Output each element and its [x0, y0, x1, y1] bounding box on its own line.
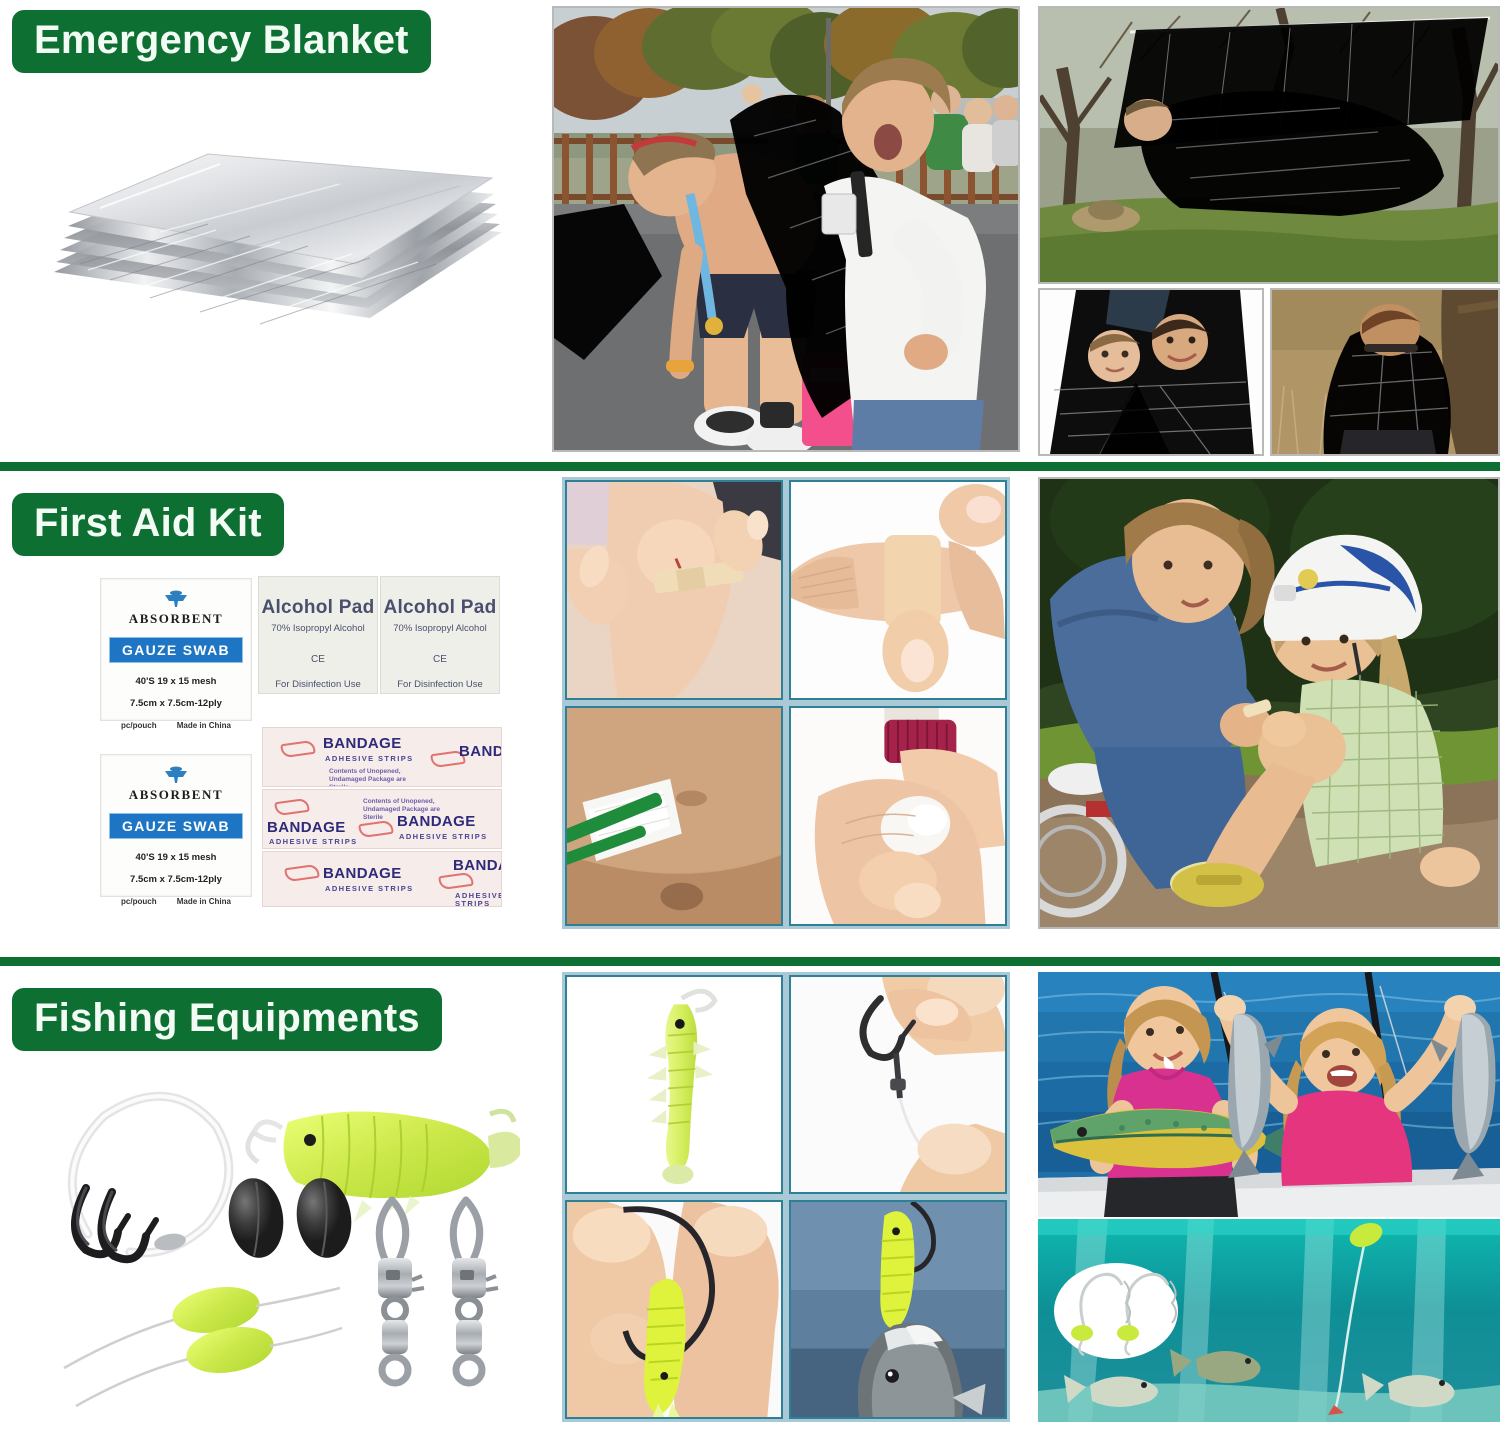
alcohol-pad-title-2: Alcohol Pad [381, 597, 499, 619]
fish-striking-lure-photo [789, 1200, 1007, 1419]
alcohol-pad-packet-1: Alcohol Pad 70% Isopropyl Alcohol CE For… [258, 576, 378, 694]
fishing-usage-grid [562, 972, 1010, 1422]
alcohol-pad-packet-2: Alcohol Pad 70% Isopropyl Alcohol CE For… [380, 576, 500, 694]
gauze-packet-mesh-2: 40'S 19 x 15 mesh [101, 852, 251, 863]
gauze-swab-packet-1: ABSORBENT GAUZE SWAB 40'S 19 x 15 mesh 7… [100, 578, 252, 721]
alcohol-pad-title: Alcohol Pad [259, 597, 377, 619]
product-infographic-sheet: Emergency Blanket [0, 0, 1500, 1442]
cleaning-wound-with-gauze-photo [565, 706, 783, 926]
section-emergency-blanket: Emergency Blanket [0, 0, 1500, 462]
section-fishing-equipments: Fishing Equipments [0, 966, 1500, 1443]
blanket-bivouac-shelter-photo [1038, 6, 1500, 284]
bandage-subtitle-2b: ADHESIVE STRIPS [399, 833, 488, 841]
first-aid-usage-grid [562, 477, 1010, 929]
marathon-runner-receiving-blanket-photo [552, 6, 1020, 452]
mother-treating-childs-scraped-knee-photo [1038, 477, 1500, 929]
bandage-subtitle-1: ADHESIVE STRIPS [325, 755, 414, 763]
gauze-packet-unit-2: pc/pouch [121, 897, 157, 906]
gauze-packet-unit: pc/pouch [121, 721, 157, 730]
fishing-usage-grid-column [540, 966, 1030, 1443]
gauze-packet-band-2: GAUZE SWAB [109, 813, 243, 839]
section-label-first-aid-kit: First Aid Kit [12, 493, 284, 556]
bandage-sterile-note-1: Contents of Unopened, Undamaged Package … [329, 768, 421, 787]
wiping-hand-with-alcohol-pad-photo [789, 706, 1007, 926]
emergency-blanket-collage-column [1030, 0, 1500, 462]
hook-and-line-in-hand-photo [789, 975, 1007, 1194]
alcohol-pad-subtitle-2: 70% Isopropyl Alcohol [381, 623, 499, 634]
first-aid-product-column: First Aid Kit ABSORBENT GAUZE SWAB 40'S … [0, 471, 540, 957]
fishing-tackle-layout-image [20, 1066, 520, 1416]
bandage-adhesive-strip-packet-1: BANDAGE ADHESIVE STRIPS Contents of Unop… [262, 727, 502, 787]
two-children-wrapped-in-blanket-photo [1038, 288, 1264, 456]
gauze-packet-band: GAUZE SWAB [109, 637, 243, 663]
gauze-packet-origin: Made in China [177, 721, 231, 730]
gauze-packet-title: ABSORBENT [101, 611, 251, 627]
section-label-emergency-blanket: Emergency Blanket [12, 10, 431, 73]
fishing-product-column: Fishing Equipments [0, 966, 540, 1443]
first-aid-lifestyle-column [1030, 471, 1500, 957]
bandage-subtitle-3b: ADHESIVE STRIPS [455, 892, 502, 907]
applying-bandage-to-knee-photo [565, 480, 783, 700]
alcohol-pad-ce-mark: CE [259, 654, 377, 665]
bandage-adhesive-strip-packet-3: BANDAGE ADHESIVE STRIPS BANDAGE ADHESIVE… [262, 851, 502, 907]
emergency-blanket-product-column: Emergency Blanket [0, 0, 540, 462]
gauze-packet-mesh: 40'S 19 x 15 mesh [101, 676, 251, 687]
section-first-aid-kit: First Aid Kit ABSORBENT GAUZE SWAB 40'S … [0, 471, 1500, 957]
alcohol-pad-usage: For Disinfection Use [259, 679, 377, 690]
girls-with-caught-fish-on-boat-photo [1038, 972, 1500, 1217]
bandage-title-3: BANDAGE [323, 866, 402, 881]
section-label-fishing-equipments: Fishing Equipments [12, 988, 442, 1051]
bandage-subtitle-3: ADHESIVE STRIPS [325, 885, 414, 893]
underwater-glow-float-scene-photo [1038, 1219, 1500, 1422]
first-aid-usage-grid-column [540, 471, 1030, 957]
bandage-title-1: BANDAGE [323, 736, 402, 751]
gauze-packet-origin-2: Made in China [177, 897, 231, 906]
gauze-swab-packet-2: ABSORBENT GAUZE SWAB 40'S 19 x 15 mesh 7… [100, 754, 252, 897]
bandage-title-3b: BANDAGE [453, 858, 502, 873]
section-divider-2 [0, 957, 1500, 966]
shrimp-lure-closeup-photo [565, 975, 783, 1194]
gauze-packet-size: 7.5cm x 7.5cm-12ply [101, 698, 251, 709]
emergency-blanket-usage-column [540, 0, 1030, 462]
fishing-lifestyle-column [1030, 966, 1500, 1443]
bandage-title-2: BANDAGE [267, 820, 346, 835]
section-divider-1 [0, 462, 1500, 471]
rigging-lure-on-hook-photo [565, 1200, 783, 1419]
alcohol-pad-usage-2: For Disinfection Use [381, 679, 499, 690]
alcohol-pad-ce-mark-2: CE [381, 654, 499, 665]
gauze-packet-title-2: ABSORBENT [101, 787, 251, 803]
bandage-adhesive-strip-packet-2: BANDAGE ADHESIVE STRIPS Contents of Unop… [262, 789, 502, 849]
gauze-packet-size-2: 7.5cm x 7.5cm-12ply [101, 874, 251, 885]
folded-mylar-emergency-blanket-image [40, 112, 510, 402]
man-wrapped-in-blanket-outdoors-photo [1270, 288, 1500, 456]
alcohol-pad-subtitle: 70% Isopropyl Alcohol [259, 623, 377, 634]
bandage-title-2b: BANDAGE [397, 814, 476, 829]
bandage-title-1b: BANDAGE [459, 744, 502, 759]
bandage-subtitle-2: ADHESIVE STRIPS [269, 838, 358, 846]
applying-bandage-to-finger-photo [789, 480, 1007, 700]
